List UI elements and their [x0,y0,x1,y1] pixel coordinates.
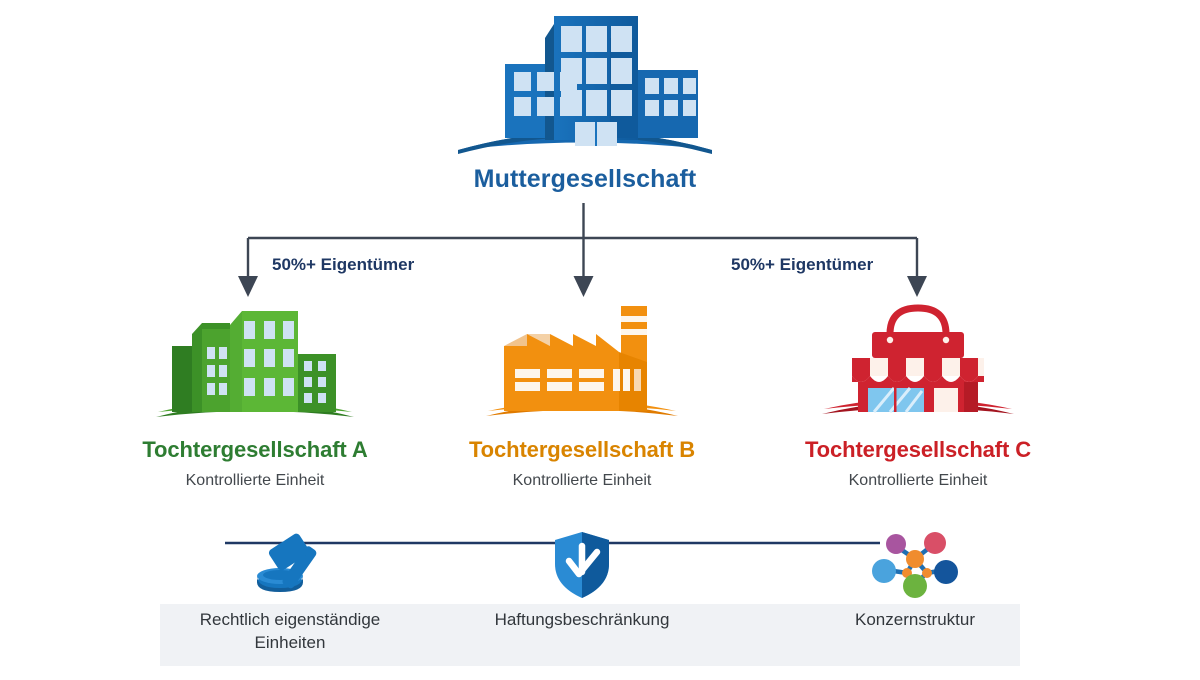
red-storefront-icon [768,296,1068,424]
subsidiary-c-subtitle: Kontrollierte Einheit [768,472,1068,490]
feature-group-structure-label: Konzernstruktur [775,608,1055,631]
arrow-down-icon [574,276,594,297]
subsidiary-node-a[interactable]: Tochtergesellschaft A Kontrollierte Einh… [105,296,405,490]
arrow-down-icon [907,276,927,297]
subsidiary-b-subtitle: Kontrollierte Einheit [432,472,732,490]
network-node-lightblue [872,559,896,583]
network-nodes-icon [775,528,1055,600]
network-node-pink [924,532,946,554]
feature-limited-liability-label: Haftungsbeschränkung [442,608,722,631]
arrow-down-icon [238,276,258,297]
subsidiary-c-title: Tochtergesellschaft C [768,437,1068,463]
edge-label-right-text: 50%+ Eigentümer [731,255,873,274]
network-node-green [903,574,927,598]
feature-group-structure[interactable]: Konzernstruktur [775,528,1055,631]
shield-check-icon [442,528,722,600]
parent-company-title: Muttergesellschaft [440,165,730,194]
parent-company-node[interactable]: Muttergesellschaft [440,8,730,194]
feature-legal-entities[interactable]: Rechtlich eigenständige Einheiten [150,528,430,655]
green-office-building-icon [105,296,405,424]
edge-label-left: 50%+ Eigentümer [272,255,414,275]
gavel-icon [150,528,430,600]
edge-label-left-text: 50%+ Eigentümer [272,255,414,274]
orange-factory-icon [432,296,732,424]
subsidiary-b-title: Tochtergesellschaft B [432,437,732,463]
feature-legal-entities-label: Rechtlich eigenständige Einheiten [150,608,430,655]
diagram-canvas: Muttergesellschaft 50%+ Eigentümer 50%+ … [0,0,1200,680]
subsidiary-a-title: Tochtergesellschaft A [105,437,405,463]
subsidiary-node-c[interactable]: Tochtergesellschaft C Kontrollierte Einh… [768,296,1068,490]
network-hub-node [906,550,924,568]
feature-limited-liability[interactable]: Haftungsbeschränkung [442,528,722,631]
office-building-icon [440,8,730,161]
network-node-darkblue [934,560,958,584]
network-node-purple [886,534,906,554]
subsidiary-a-subtitle: Kontrollierte Einheit [105,472,405,490]
subsidiary-node-b[interactable]: Tochtergesellschaft B Kontrollierte Einh… [432,296,732,490]
edge-label-right: 50%+ Eigentümer [731,255,873,275]
